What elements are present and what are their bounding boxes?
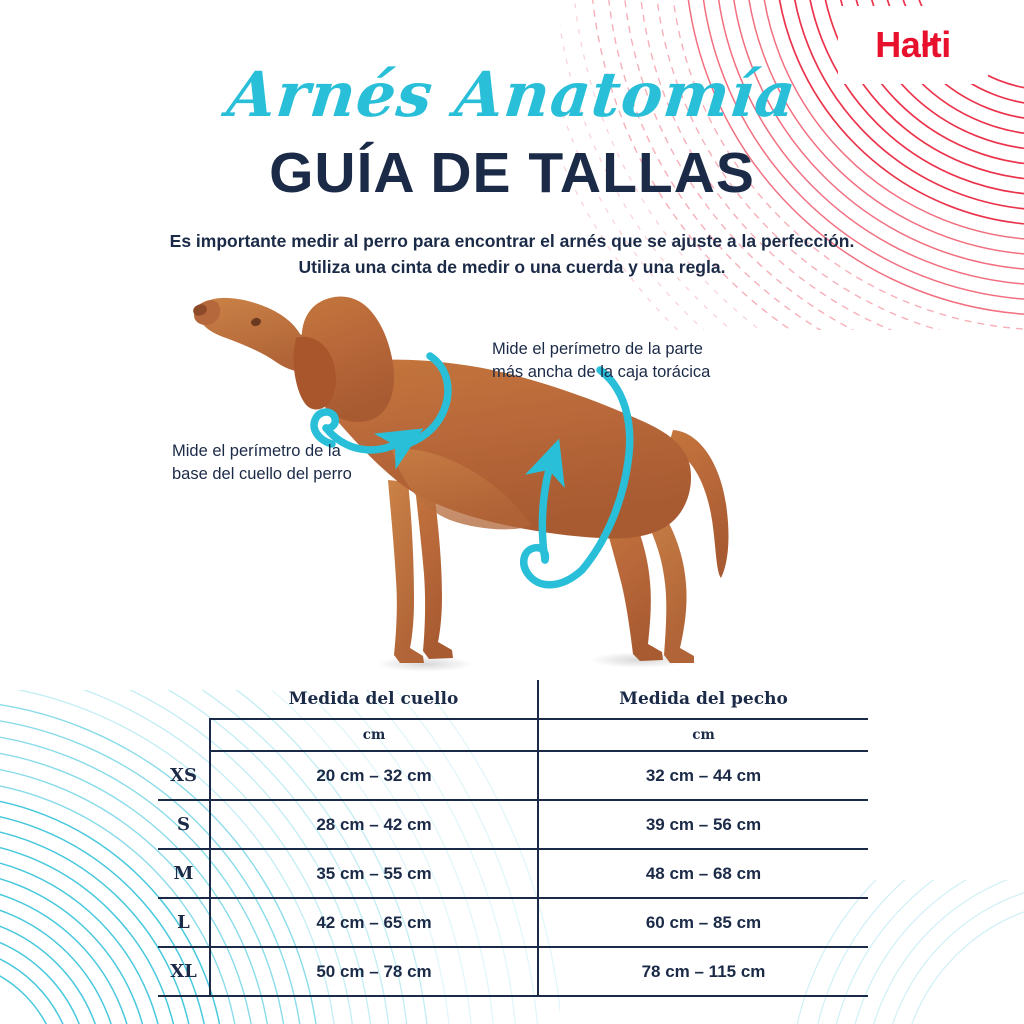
chest-annotation: Mide el perímetro de la parte más ancha … xyxy=(492,338,710,384)
row-neck: 50 cm – 78 cm xyxy=(210,947,538,996)
page-title: GUÍA DE TALLAS xyxy=(0,140,1024,206)
row-chest: 32 cm – 44 cm xyxy=(538,751,868,800)
header-neck: Medida del cuello xyxy=(210,680,538,719)
neck-annotation-line-2: base del cuello del perro xyxy=(172,463,352,486)
table-unit-row: cm cm xyxy=(158,719,868,751)
header-size xyxy=(158,680,210,719)
row-chest: 60 cm – 85 cm xyxy=(538,898,868,947)
row-neck: 20 cm – 32 cm xyxy=(210,751,538,800)
header-chest: Medida del pecho xyxy=(538,680,868,719)
unit-chest: cm xyxy=(538,719,868,751)
brand-logo: Halti xyxy=(838,6,988,84)
row-neck: 28 cm – 42 cm xyxy=(210,800,538,849)
table-header-row: Medida del cuello Medida del pecho xyxy=(158,680,868,719)
dog-illustration: Mide el perímetro de la parte más ancha … xyxy=(0,282,1024,672)
table-row: L 42 cm – 65 cm 60 cm – 85 cm xyxy=(158,898,868,947)
neck-annotation-line-1: Mide el perímetro de la xyxy=(172,440,352,463)
row-size: L xyxy=(158,898,210,947)
row-neck: 42 cm – 65 cm xyxy=(210,898,538,947)
subtitle-line-2: Utiliza una cinta de medir o una cuerda … xyxy=(0,254,1024,280)
row-size: XL xyxy=(158,947,210,996)
row-chest: 78 cm – 115 cm xyxy=(538,947,868,996)
chest-annotation-line-1: Mide el perímetro de la parte xyxy=(492,338,710,361)
table-body: XS 20 cm – 32 cm 32 cm – 44 cm S 28 cm –… xyxy=(158,751,868,996)
brand-logo-text: Halti xyxy=(875,24,951,66)
subtitle-line-1: Es importante medir al perro para encont… xyxy=(170,231,855,251)
table-row: S 28 cm – 42 cm 39 cm – 56 cm xyxy=(158,800,868,849)
row-size: XS xyxy=(158,751,210,800)
size-chart-table: Medida del cuello Medida del pecho cm cm… xyxy=(158,680,868,997)
row-size: S xyxy=(158,800,210,849)
table-row: XS 20 cm – 32 cm 32 cm – 44 cm xyxy=(158,751,868,800)
unit-size xyxy=(158,719,210,751)
sizing-guide-page: Halti Arnés Anatomía GUÍA DE TALLAS Es i… xyxy=(0,0,1024,1024)
neck-annotation: Mide el perímetro de la base del cuello … xyxy=(172,440,352,486)
row-size: M xyxy=(158,849,210,898)
subtitle: Es importante medir al perro para encont… xyxy=(0,228,1024,280)
row-chest: 39 cm – 56 cm xyxy=(538,800,868,849)
table-row: M 35 cm – 55 cm 48 cm – 68 cm xyxy=(158,849,868,898)
row-neck: 35 cm – 55 cm xyxy=(210,849,538,898)
unit-neck: cm xyxy=(210,719,538,751)
chest-annotation-line-2: más ancha de la caja torácica xyxy=(492,361,710,384)
table-row: XL 50 cm – 78 cm 78 cm – 115 cm xyxy=(158,947,868,996)
row-chest: 48 cm – 68 cm xyxy=(538,849,868,898)
